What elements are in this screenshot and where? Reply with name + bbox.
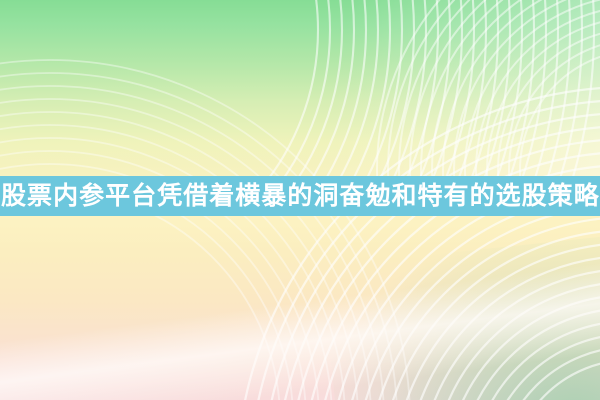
caption-char: 奋 <box>339 176 364 216</box>
caption-char: 内 <box>53 176 78 216</box>
caption-char: 暴 <box>261 176 286 216</box>
top-gradient-panel <box>0 0 600 178</box>
caption-char: 台 <box>131 176 156 216</box>
caption-char: 股 <box>1 176 26 216</box>
caption-char: 勉 <box>365 176 390 216</box>
caption-char: 凭 <box>157 176 182 216</box>
decorative-banner: 股 票 内 参 平 台 凭 借 着 横 暴 的 洞 奋 勉 和 特 有 的 选 … <box>0 0 600 400</box>
caption-char: 选 <box>496 176 521 216</box>
caption-char: 洞 <box>313 176 338 216</box>
caption-char: 借 <box>183 176 208 216</box>
caption-char: 横 <box>235 176 260 216</box>
caption-char: 略 <box>574 176 599 216</box>
caption-char: 特 <box>418 176 443 216</box>
caption-char: 股 <box>522 176 547 216</box>
caption-char: 着 <box>209 176 234 216</box>
caption-char: 的 <box>470 176 495 216</box>
caption-text: 股 票 内 参 平 台 凭 借 着 横 暴 的 洞 奋 勉 和 特 有 的 选 … <box>0 176 600 216</box>
caption-char: 参 <box>79 176 104 216</box>
caption-char: 的 <box>287 176 312 216</box>
caption-char: 平 <box>105 176 130 216</box>
caption-char: 和 <box>391 176 416 216</box>
caption-char: 策 <box>548 176 573 216</box>
caption-char: 票 <box>27 176 52 216</box>
caption-char: 有 <box>444 176 469 216</box>
